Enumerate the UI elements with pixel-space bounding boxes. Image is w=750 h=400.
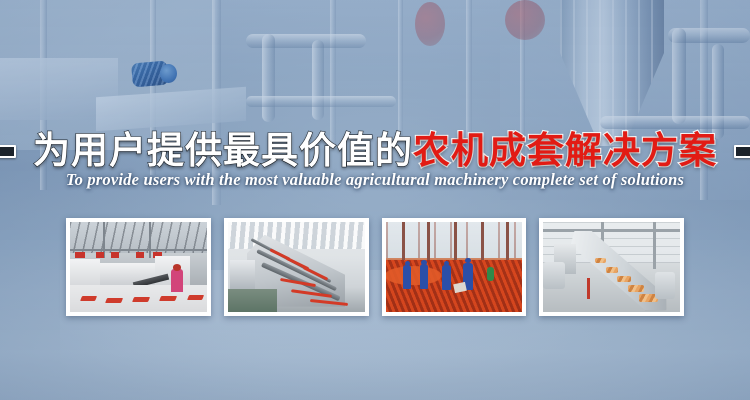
headline-red-text: 农机成套解决方案 (413, 129, 717, 173)
thumb1-red-box (75, 252, 85, 258)
thumbnail-strip (66, 218, 684, 316)
thumb3-column (454, 222, 457, 263)
thumbnail-2-image (228, 222, 365, 312)
headline-white-text: 为用户提供最具价值的 (33, 129, 413, 173)
thumb4-product (628, 285, 644, 292)
thumb1-roof (70, 222, 207, 253)
thumb2-ceiling (228, 222, 365, 249)
thumb3-column (427, 222, 430, 263)
thumb1-red-box (111, 252, 119, 258)
thumbnail-1-image (70, 222, 207, 312)
thumb1-column (149, 222, 151, 258)
thumb1-worker (171, 269, 183, 292)
thumb1-product (187, 295, 204, 300)
thumbnail-3-image (386, 222, 523, 312)
thumb4-product (606, 267, 618, 273)
thumb3-column (402, 222, 405, 263)
thumbnail-1[interactable] (66, 218, 211, 316)
thumb1-product (104, 298, 123, 303)
background-vignette (0, 0, 750, 400)
background-photo (0, 0, 750, 400)
thumb4-product (595, 258, 606, 263)
thumb4-beam (543, 229, 680, 232)
thumb3-worker (442, 265, 452, 290)
thumb1-product (132, 297, 151, 302)
thumb4-red-post (587, 278, 590, 300)
thumbnail-2[interactable] (224, 218, 369, 316)
thumb3-column (481, 222, 484, 263)
thumb4-column (653, 222, 656, 269)
hero-banner: 为用户提供最具价值的 农机成套解决方案 To provide users wit… (0, 0, 750, 400)
thumb3-worker-head (421, 260, 426, 265)
thumb2-machine (230, 260, 255, 291)
thumb4-tank (655, 272, 674, 299)
thumb3-column (506, 222, 509, 263)
thumb4-tank (543, 262, 565, 289)
thumb1-red-box (136, 252, 144, 258)
thumb1-beam (70, 249, 207, 251)
headline-rule-right (734, 145, 750, 158)
thumb4-product (617, 276, 631, 282)
headline-rule-left (0, 145, 16, 158)
thumb1-worker-head (173, 264, 181, 270)
thumb1-product (80, 296, 97, 301)
thumbnail-4-image (543, 222, 680, 312)
thumbnail-3[interactable] (382, 218, 527, 316)
thumbnail-4[interactable] (539, 218, 684, 316)
thumb1-red-box (96, 252, 104, 258)
thumb2-floor (228, 289, 277, 312)
thumb1-product (159, 296, 178, 301)
thumb3-worker-green (487, 267, 494, 281)
thumb3-worker (420, 264, 428, 288)
page-title: 为用户提供最具价值的 农机成套解决方案 (33, 129, 717, 173)
headline-subtitle: To provide users with the most valuable … (0, 170, 750, 190)
thumb3-worker-head (444, 261, 449, 266)
thumb3-worker (403, 265, 411, 288)
